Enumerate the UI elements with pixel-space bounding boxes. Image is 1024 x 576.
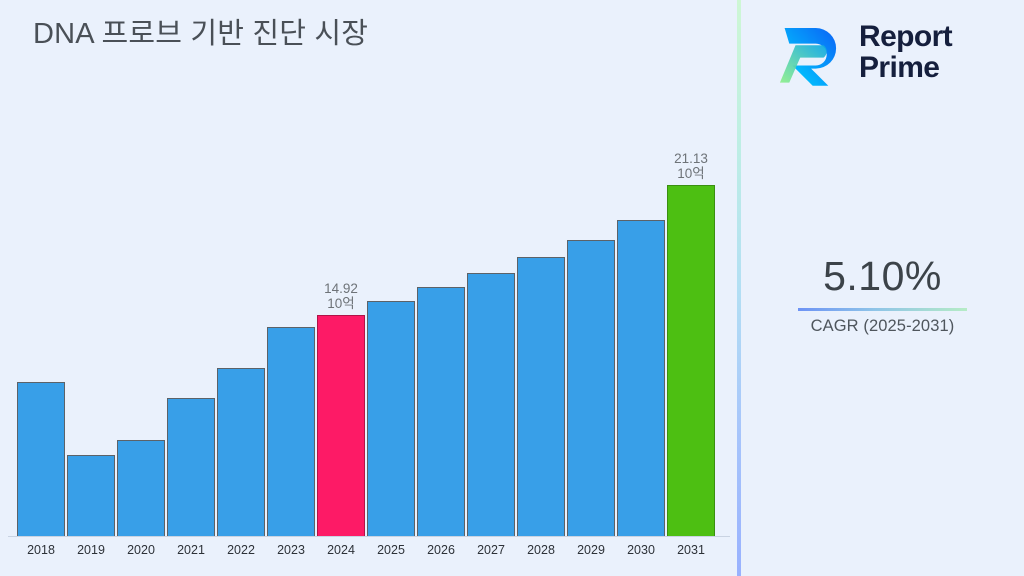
- chart-panel: DNA 프로브 기반 진단 시장 14.9210억21.1310억 201820…: [0, 0, 738, 576]
- bar-group-2023[interactable]: [267, 96, 315, 536]
- bar-group-2024[interactable]: 14.9210억: [317, 96, 365, 536]
- bar-2020[interactable]: [117, 440, 165, 536]
- x-tick-2021: 2021: [167, 543, 215, 557]
- x-tick-2025: 2025: [367, 543, 415, 557]
- bar-chart-plot-area: 14.9210억21.1310억: [0, 96, 738, 536]
- x-tick-2029: 2029: [567, 543, 615, 557]
- cagr-divider-rule: [798, 308, 967, 311]
- cagr-value: 5.10%: [741, 252, 1024, 300]
- bar-2030[interactable]: [617, 220, 665, 536]
- bar-2021[interactable]: [167, 398, 215, 536]
- bar-group-2026[interactable]: [417, 96, 465, 536]
- bar-group-2025[interactable]: [367, 96, 415, 536]
- x-tick-2024: 2024: [317, 543, 365, 557]
- bar-2023[interactable]: [267, 327, 315, 536]
- x-axis-tick-labels: 2018201920202021202220232024202520262027…: [0, 540, 738, 576]
- bar-2031[interactable]: [667, 185, 715, 536]
- bar-group-2029[interactable]: [567, 96, 615, 536]
- x-axis-line: [8, 536, 730, 537]
- bar-value-number: 14.92: [324, 281, 358, 296]
- bar-2029[interactable]: [567, 240, 615, 536]
- bar-2025[interactable]: [367, 301, 415, 536]
- x-tick-2031: 2031: [667, 543, 715, 557]
- cagr-block: 5.10% CAGR (2025-2031): [741, 252, 1024, 336]
- cagr-caption: CAGR (2025-2031): [741, 317, 1024, 336]
- bar-2024[interactable]: [317, 315, 365, 536]
- bar-group-2021[interactable]: [167, 96, 215, 536]
- bar-value-number: 21.13: [674, 151, 708, 166]
- bar-group-2027[interactable]: [467, 96, 515, 536]
- bar-2027[interactable]: [467, 273, 515, 536]
- bar-value-label-2024: 14.9210억: [324, 281, 358, 311]
- report-prime-r-logo-icon: [769, 14, 847, 92]
- page-title: DNA 프로브 기반 진단 시장: [33, 10, 368, 52]
- x-tick-2030: 2030: [617, 543, 665, 557]
- bar-value-unit: 10억: [674, 166, 708, 181]
- bar-group-2019[interactable]: [67, 96, 115, 536]
- x-tick-2023: 2023: [267, 543, 315, 557]
- bar-group-2020[interactable]: [117, 96, 165, 536]
- bar-group-2022[interactable]: [217, 96, 265, 536]
- x-tick-2028: 2028: [517, 543, 565, 557]
- bar-group-2031[interactable]: 21.1310억: [667, 96, 715, 536]
- bar-group-2030[interactable]: [617, 96, 665, 536]
- x-tick-2019: 2019: [67, 543, 115, 557]
- bar-value-unit: 10억: [324, 296, 358, 311]
- x-tick-2022: 2022: [217, 543, 265, 557]
- brand-name-line1: Report: [859, 22, 952, 53]
- brand-name: Report Prime: [859, 22, 952, 83]
- x-tick-2027: 2027: [467, 543, 515, 557]
- bar-group-2028[interactable]: [517, 96, 565, 536]
- bar-value-label-2031: 21.1310억: [674, 151, 708, 181]
- brand-logo: Report Prime: [769, 14, 952, 92]
- bar-2026[interactable]: [417, 287, 465, 536]
- bar-group-2018[interactable]: [17, 96, 65, 536]
- brand-name-line2: Prime: [859, 53, 952, 84]
- bar-2028[interactable]: [517, 257, 565, 536]
- bar-2022[interactable]: [217, 368, 265, 536]
- bar-2018[interactable]: [17, 382, 65, 536]
- side-panel: Report Prime 5.10% CAGR (2025-2031): [741, 0, 1024, 576]
- x-tick-2018: 2018: [17, 543, 65, 557]
- bar-2019[interactable]: [67, 455, 115, 536]
- x-tick-2020: 2020: [117, 543, 165, 557]
- x-tick-2026: 2026: [417, 543, 465, 557]
